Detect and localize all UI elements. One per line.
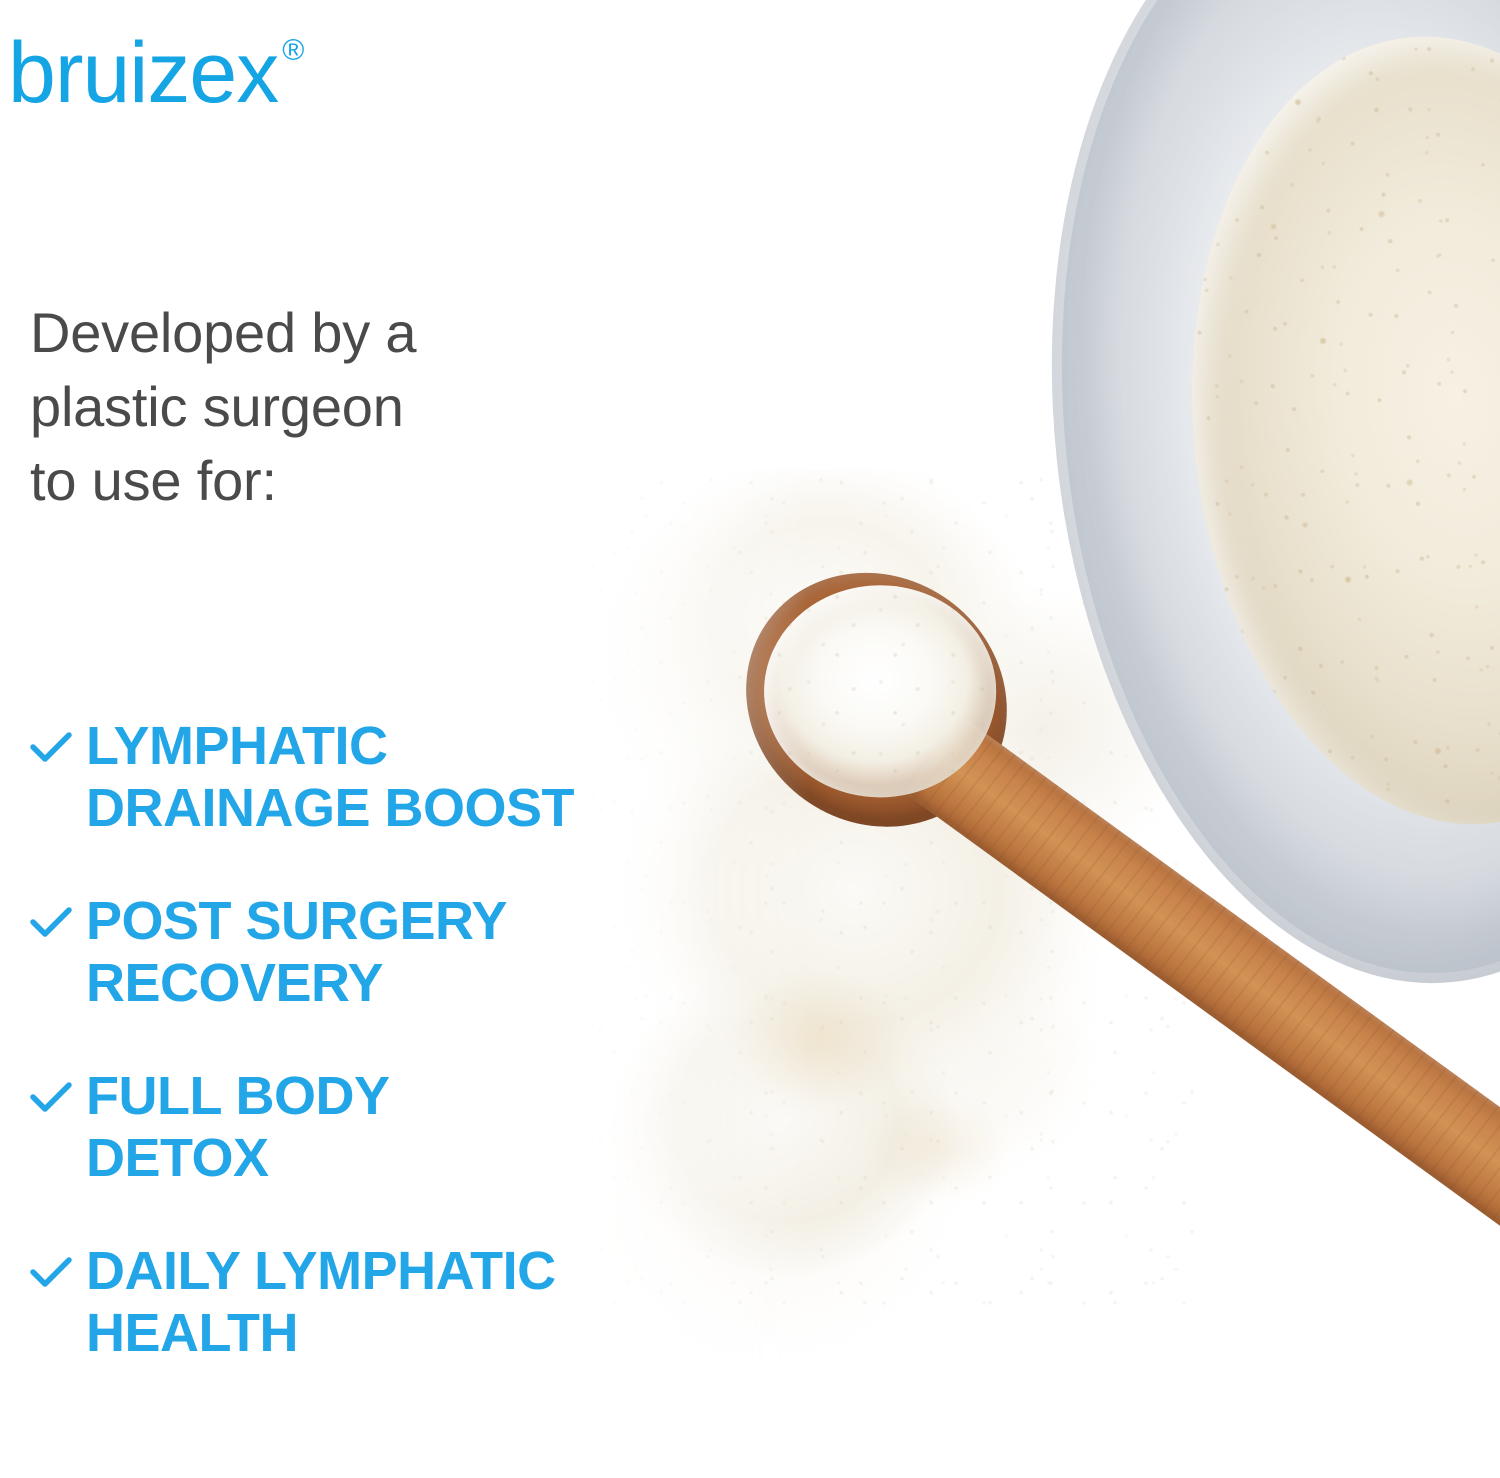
benefit-line-1: FULL BODY: [86, 1066, 390, 1128]
check-icon: [26, 1247, 76, 1297]
benefit-line-1: DAILY LYMPHATIC: [86, 1241, 556, 1303]
benefit-label: POST SURGERY RECOVERY: [86, 891, 507, 1014]
benefits-list: LYMPHATIC DRAINAGE BOOST POST SURGERY RE…: [26, 716, 786, 1364]
registered-trademark-icon: ®: [282, 36, 304, 66]
benefit-label: LYMPHATIC DRAINAGE BOOST: [86, 716, 574, 839]
list-item: POST SURGERY RECOVERY: [26, 891, 786, 1014]
check-icon: [26, 1072, 76, 1122]
check-icon: [26, 722, 76, 772]
benefit-label: DAILY LYMPHATIC HEALTH: [86, 1241, 556, 1364]
headline-line-2: plastic surgeon: [30, 370, 650, 444]
brand-logo: bruizex ®: [8, 30, 304, 116]
check-icon: [26, 897, 76, 947]
list-item: LYMPHATIC DRAINAGE BOOST: [26, 716, 786, 839]
benefit-line-2: DETOX: [86, 1128, 390, 1190]
benefit-line-2: DRAINAGE BOOST: [86, 778, 574, 840]
benefit-line-2: RECOVERY: [86, 953, 507, 1015]
page-title: Developed by a plastic surgeon to use fo…: [30, 296, 650, 518]
list-item: FULL BODY DETOX: [26, 1066, 786, 1189]
headline-line-1: Developed by a: [30, 296, 650, 370]
product-feature-image: bruizex ® Developed by a plastic surgeon…: [0, 0, 1500, 1478]
benefit-line-1: POST SURGERY: [86, 891, 507, 953]
benefit-line-1: LYMPHATIC: [86, 716, 574, 778]
content-layer: bruizex ® Developed by a plastic surgeon…: [0, 0, 1500, 1478]
headline-line-3: to use for:: [30, 444, 650, 518]
brand-name: bruizex: [8, 30, 278, 116]
benefit-line-2: HEALTH: [86, 1303, 556, 1365]
list-item: DAILY LYMPHATIC HEALTH: [26, 1241, 786, 1364]
benefit-label: FULL BODY DETOX: [86, 1066, 390, 1189]
